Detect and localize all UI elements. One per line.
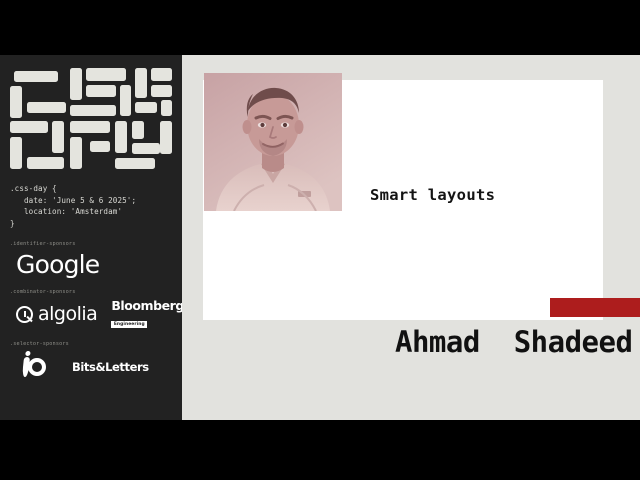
sponsor-group-label: .selector-sponsors [10, 341, 172, 347]
portrait-illustration [204, 73, 342, 211]
algolia-logo: algolia [16, 305, 97, 324]
bits-and-letters-logo: Bits&Letters [72, 360, 149, 374]
sponsor-group-label: .identifier-sponsors [10, 241, 172, 247]
sponsor-row: Google [10, 252, 172, 277]
css-day-code-snippet: .css-day { date: 'June 5 & 6 2025'; loca… [10, 183, 172, 229]
letterbox-top-bar [0, 0, 640, 55]
io-circle-mark-icon [16, 352, 58, 382]
algolia-mark-icon [16, 306, 33, 323]
io-stem-icon [22, 357, 30, 377]
accent-red-bar [550, 298, 640, 317]
video-frame: .css-day { date: 'June 5 & 6 2025'; loca… [0, 0, 640, 480]
css-day-logo [10, 67, 172, 171]
sponsor-group-identifier: .identifier-sponsors Google [10, 241, 172, 277]
io-dot-icon [28, 358, 46, 376]
sponsor-group-selector: .selector-sponsors Bits&Letters [10, 341, 172, 382]
speaker-portrait [204, 73, 342, 211]
slide-main-area: Smart layouts Ahmad Shadeed [182, 55, 640, 420]
presentation-slide: .css-day { date: 'June 5 & 6 2025'; loca… [0, 55, 640, 420]
letterbox-bottom-bar [0, 420, 640, 480]
sponsor-group-label: .combinator-sponsors [10, 289, 172, 295]
talk-title: Smart layouts [370, 186, 495, 204]
bloomberg-wordmark: Bloomberg [111, 300, 184, 313]
sidebar: .css-day { date: 'June 5 & 6 2025'; loca… [0, 55, 182, 420]
sponsor-group-combinator: .combinator-sponsors algolia Bloomberg E… [10, 289, 172, 329]
google-logo: Google [16, 252, 99, 277]
bloomberg-logo: Bloomberg Engineering [111, 300, 184, 329]
sponsor-row: Bits&Letters [10, 352, 172, 382]
sponsor-row: algolia Bloomberg Engineering [10, 300, 172, 329]
algolia-wordmark: algolia [38, 305, 97, 324]
bloomberg-engineering-badge: Engineering [111, 321, 147, 328]
speaker-name: Ahmad Shadeed [395, 325, 632, 359]
